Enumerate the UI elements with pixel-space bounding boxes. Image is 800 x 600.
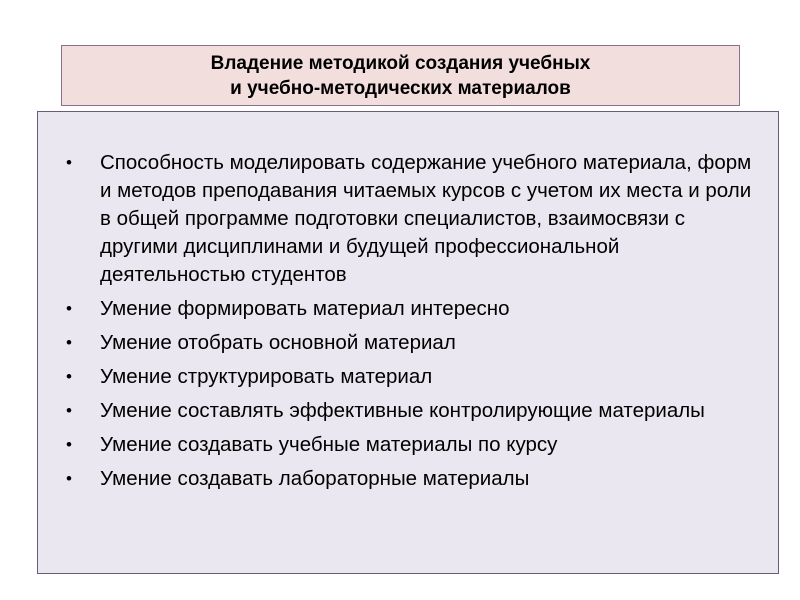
list-item: • Умение создавать лабораторные материал… — [52, 465, 762, 493]
bullet-dot-icon: • — [66, 363, 80, 391]
list-item-label: Умение создавать лабораторные материалы — [100, 465, 762, 493]
list-item-label: Умение составлять эффективные контролиру… — [100, 397, 762, 425]
slide-title-box: Владение методикой создания учебных и уч… — [61, 45, 740, 106]
page-title: Владение методикой создания учебных и уч… — [203, 51, 599, 101]
bullet-dot-icon: • — [66, 329, 80, 357]
bullet-dot-icon: • — [66, 295, 80, 323]
bullet-dot-icon: • — [66, 397, 80, 425]
bullet-dot-icon: • — [66, 149, 80, 177]
list-item: • Умение создавать учебные материалы по … — [52, 431, 762, 459]
list-item-label: Умение формировать материал интересно — [100, 295, 762, 323]
list-item: • Умение отобрать основной материал — [52, 329, 762, 357]
list-item-label: Умение создавать учебные материалы по ку… — [100, 431, 762, 459]
bullet-dot-icon: • — [66, 431, 80, 459]
list-item-label: Умение отобрать основной материал — [100, 329, 762, 357]
list-item-label: Умение структурировать материал — [100, 363, 762, 391]
list-item-label: Способность моделировать содержание учеб… — [100, 149, 762, 289]
slide-canvas: Владение методикой создания учебных и уч… — [0, 0, 800, 600]
slide-content-box: • Способность моделировать содержание уч… — [37, 111, 779, 574]
bullet-list: • Способность моделировать содержание уч… — [38, 112, 778, 493]
bullet-dot-icon: • — [66, 465, 80, 493]
list-item: • Умение структурировать материал — [52, 363, 762, 391]
list-item: • Способность моделировать содержание уч… — [52, 149, 762, 289]
list-item: • Умение формировать материал интересно — [52, 295, 762, 323]
list-item: • Умение составлять эффективные контроли… — [52, 397, 762, 425]
